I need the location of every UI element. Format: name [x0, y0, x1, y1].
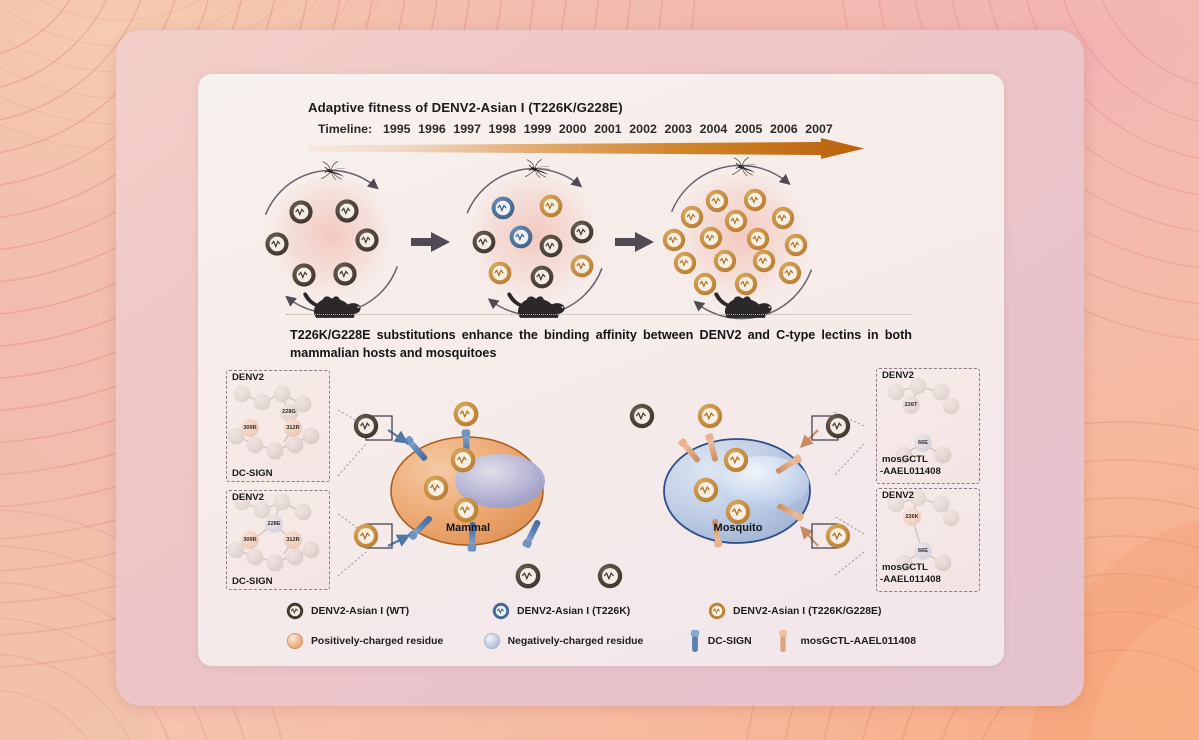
legend-negative-residue: Negatively-charged residue: [483, 632, 689, 650]
virion-orange-icon: [708, 602, 726, 620]
timeline-year-2005: 2005: [731, 122, 766, 136]
residue-label-309r-b: 309R: [239, 537, 261, 543]
receptor-blue-icon: [689, 629, 701, 653]
legend-virion-t226k-g228e: DENV2-Asian I (T226K/G228E): [708, 602, 881, 620]
cycle-arrow-1-2: [411, 232, 450, 252]
mammal-cell-label: Mammal: [438, 522, 498, 534]
mammal-cell: [354, 402, 545, 589]
timeline-year-2000: 2000: [555, 122, 590, 136]
legend-virion-t226k-label: DENV2-Asian I (T226K): [517, 606, 630, 617]
figure-panel: Adaptive fitness of DENV2-Asian I (T226K…: [198, 74, 1004, 666]
cycle-arrow-2-3: [615, 232, 654, 252]
mosquito-cell-label: Mosquito: [703, 522, 773, 534]
timeline: Timeline: 1995 1996 1997 1998 1999 2000 …: [318, 122, 837, 136]
mammal-free-virion-top: [454, 402, 479, 427]
timeline-year-2002: 2002: [625, 122, 660, 136]
cycle-1: [258, 159, 405, 326]
residue-label-228e: 228E: [263, 521, 285, 527]
virion-blue-icon: [492, 602, 510, 620]
inset-tl-bottom-label: DC-SIGN: [232, 468, 273, 479]
legend-positive-residue-label: Positively-charged residue: [311, 636, 443, 647]
virion-dark-icon: [286, 602, 304, 620]
panel-divider: [286, 314, 912, 315]
legend-negative-residue-label: Negatively-charged residue: [508, 636, 644, 647]
sphere-blue-icon: [483, 632, 501, 650]
legend-row-virions: DENV2-Asian I (WT) DENV2-Asian I (T226K)…: [286, 602, 916, 620]
inset-tl-top-label: DENV2: [232, 372, 264, 383]
legend-virion-t226k: DENV2-Asian I (T226K): [492, 602, 708, 620]
receptor-tan-icon: [777, 629, 789, 653]
timeline-year-1995: 1995: [379, 122, 414, 136]
panel-b-heading: T226K/G228E substitutions enhance the bi…: [290, 326, 912, 363]
timeline-year-1996: 1996: [414, 122, 449, 136]
mammal-callout-bottom: [354, 524, 392, 548]
mosquito-free-virion-top: [698, 404, 722, 428]
legend-row-residues: Positively-charged residue Negatively-ch…: [286, 629, 916, 653]
cycle-2: [460, 157, 610, 329]
legend-virion-t226k-g228e-label: DENV2-Asian I (T226K/G228E): [733, 606, 881, 617]
inset-bl-top-label: DENV2: [232, 492, 264, 503]
legend-dc-sign-label: DC-SIGN: [708, 636, 752, 647]
mosquito-free-virion-left: [630, 404, 654, 428]
timeline-year-2003: 2003: [661, 122, 696, 136]
inset-bl-bottom-label: DC-SIGN: [232, 576, 273, 587]
inset-br-top-label: DENV2: [882, 490, 914, 501]
mammal-free-virion-bottom: [516, 564, 541, 589]
residue-label-66e-b: 66E: [912, 548, 934, 554]
legend-virion-wt-label: DENV2-Asian I (WT): [311, 606, 409, 617]
legend-mosgctl: mosGCTL-AAEL011408: [777, 629, 917, 653]
legend-mosgctl-label: mosGCTL-AAEL011408: [801, 636, 917, 647]
inset-br-bottom-label-2: -AAEL011408: [880, 574, 941, 585]
timeline-year-1999: 1999: [520, 122, 555, 136]
legend-virion-wt: DENV2-Asian I (WT): [286, 602, 492, 620]
mosquito-callout-top: [812, 414, 850, 440]
legend: DENV2-Asian I (WT) DENV2-Asian I (T226K)…: [286, 598, 916, 660]
sphere-orange-icon: [286, 632, 304, 650]
legend-positive-residue: Positively-charged residue: [286, 632, 483, 650]
residue-label-228g: 228G: [278, 409, 300, 415]
panel-a-title: Adaptive fitness of DENV2-Asian I (T226K…: [308, 100, 623, 115]
mosquito-cell: [598, 404, 850, 588]
timeline-year-2001: 2001: [590, 122, 625, 136]
timeline-year-2004: 2004: [696, 122, 731, 136]
timeline-year-1998: 1998: [485, 122, 520, 136]
residue-label-226t: 226T: [900, 402, 922, 408]
mosquito-free-virion-bottom: [598, 564, 622, 588]
residue-label-66e-a: 66E: [912, 440, 934, 446]
legend-dc-sign: DC-SIGN: [689, 629, 777, 653]
timeline-year-2006: 2006: [766, 122, 801, 136]
inset-tr-bottom-label-1: mosGCTL: [882, 454, 928, 465]
timeline-year-1997: 1997: [450, 122, 485, 136]
residue-label-309r-a: 309R: [239, 425, 261, 431]
inset-tr-top-label: DENV2: [882, 370, 914, 381]
cycle-3: [663, 156, 820, 332]
inset-br-bottom-label-1: mosGCTL: [882, 562, 928, 573]
residue-label-226k: 226K: [901, 514, 923, 520]
residue-label-312r-b: 312R: [282, 537, 304, 543]
mammal-callout-top: [354, 414, 392, 440]
residue-label-312r-a: 312R: [282, 425, 304, 431]
transmission-cycles: [198, 156, 1004, 336]
timeline-label: Timeline:: [318, 122, 372, 136]
timeline-year-2007: 2007: [801, 122, 836, 136]
inset-tr-bottom-label-2: -AAEL011408: [880, 466, 941, 477]
